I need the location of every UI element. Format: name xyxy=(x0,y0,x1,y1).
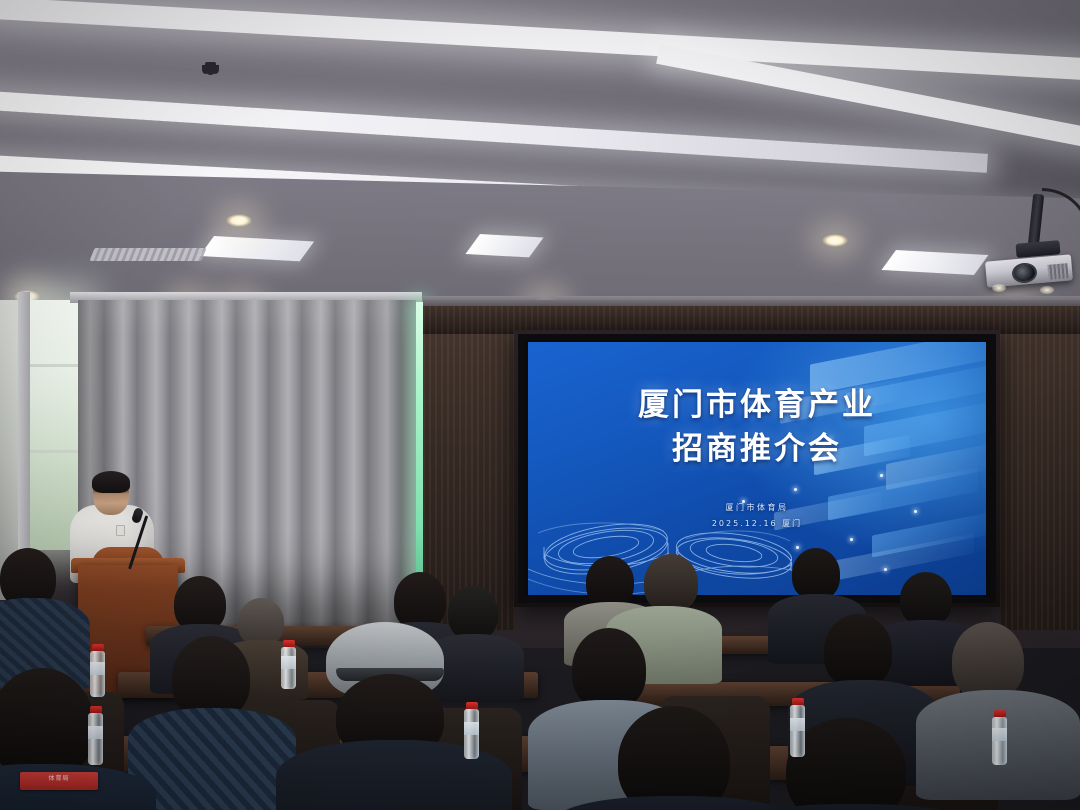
attendee-head-r1-3 xyxy=(618,706,730,810)
screen-title-line2: 招商推介会 xyxy=(528,430,986,468)
presenter-hair xyxy=(92,471,130,493)
bottle-body-4 xyxy=(464,709,479,759)
screen-sparkle-2 xyxy=(880,474,883,477)
water-bottle-5 xyxy=(790,698,805,757)
downlight-2 xyxy=(822,234,848,247)
presenter-badge xyxy=(116,525,125,536)
ceiling-projector xyxy=(986,250,1072,284)
bottle-body-6 xyxy=(992,717,1007,765)
attendee-head-r3-8 xyxy=(900,572,952,626)
attendee-head-r3-7 xyxy=(792,548,840,600)
screen-organizer: 厦门市体育局 xyxy=(528,502,986,513)
bottle-cap-6 xyxy=(994,710,1006,717)
downlight-1 xyxy=(226,214,252,227)
bottle-cap-4 xyxy=(466,702,478,709)
attendee-head-r2-4 xyxy=(824,614,892,688)
bottle-label-6 xyxy=(992,728,1007,741)
table-name-card: 体育局 xyxy=(20,772,98,790)
conference-room-photo: 厦门市体育产业 招商推介会 厦门市体育局 2025.12.16 厦门 xyxy=(0,0,1080,810)
bottle-cap-2 xyxy=(92,644,104,651)
projector-vent-grill xyxy=(1047,263,1068,280)
bottle-body-1 xyxy=(88,713,103,765)
water-bottle-3 xyxy=(281,640,296,689)
water-bottle-2 xyxy=(90,644,105,697)
bottle-label-1 xyxy=(88,726,103,739)
window-frame xyxy=(18,292,30,558)
sprinkler-head-icon xyxy=(205,62,216,75)
attendee-head-r3-5 xyxy=(586,556,634,608)
ceiling xyxy=(0,0,1080,335)
window-mullion-1 xyxy=(28,364,80,367)
bottle-body-5 xyxy=(790,705,805,757)
screen-date-location: 2025.12.16 厦门 xyxy=(528,518,986,529)
daylight-window xyxy=(28,300,80,550)
attendee-head-r3-4 xyxy=(448,586,498,640)
bottle-cap-5 xyxy=(792,698,804,705)
audience-area: 体育局 xyxy=(0,540,1080,810)
attendee-head-r3-2 xyxy=(238,598,284,646)
bottle-cap-3 xyxy=(283,640,295,647)
bottle-body-2 xyxy=(90,651,105,697)
water-bottle-4 xyxy=(464,702,479,759)
attendee-head-r3-6 xyxy=(644,554,698,612)
cove-light-2 xyxy=(0,88,988,173)
projector-indicator-glow-1 xyxy=(992,284,1006,292)
bottle-label-3 xyxy=(281,656,296,669)
projector-indicator-glow-2 xyxy=(1040,286,1054,294)
table-name-card-text: 体育局 xyxy=(20,772,98,785)
wall-trim-above-screen xyxy=(423,296,1080,306)
water-bottle-6 xyxy=(992,710,1007,765)
bottle-label-5 xyxy=(790,718,805,731)
bottle-label-2 xyxy=(90,662,105,675)
bottle-body-3 xyxy=(281,647,296,689)
attendee-head-r2-3 xyxy=(572,628,646,710)
air-vent xyxy=(89,248,206,261)
attendee-head-r2-5 xyxy=(952,622,1024,700)
window-mullion-2 xyxy=(28,450,80,453)
bottle-label-4 xyxy=(464,722,479,735)
screen-sparkle-3 xyxy=(794,488,797,491)
cove-light-1 xyxy=(0,0,1080,86)
water-bottle-1 xyxy=(88,706,103,765)
screen-title-line1: 厦门市体育产业 xyxy=(528,386,986,424)
bottle-cap-1 xyxy=(90,706,102,713)
